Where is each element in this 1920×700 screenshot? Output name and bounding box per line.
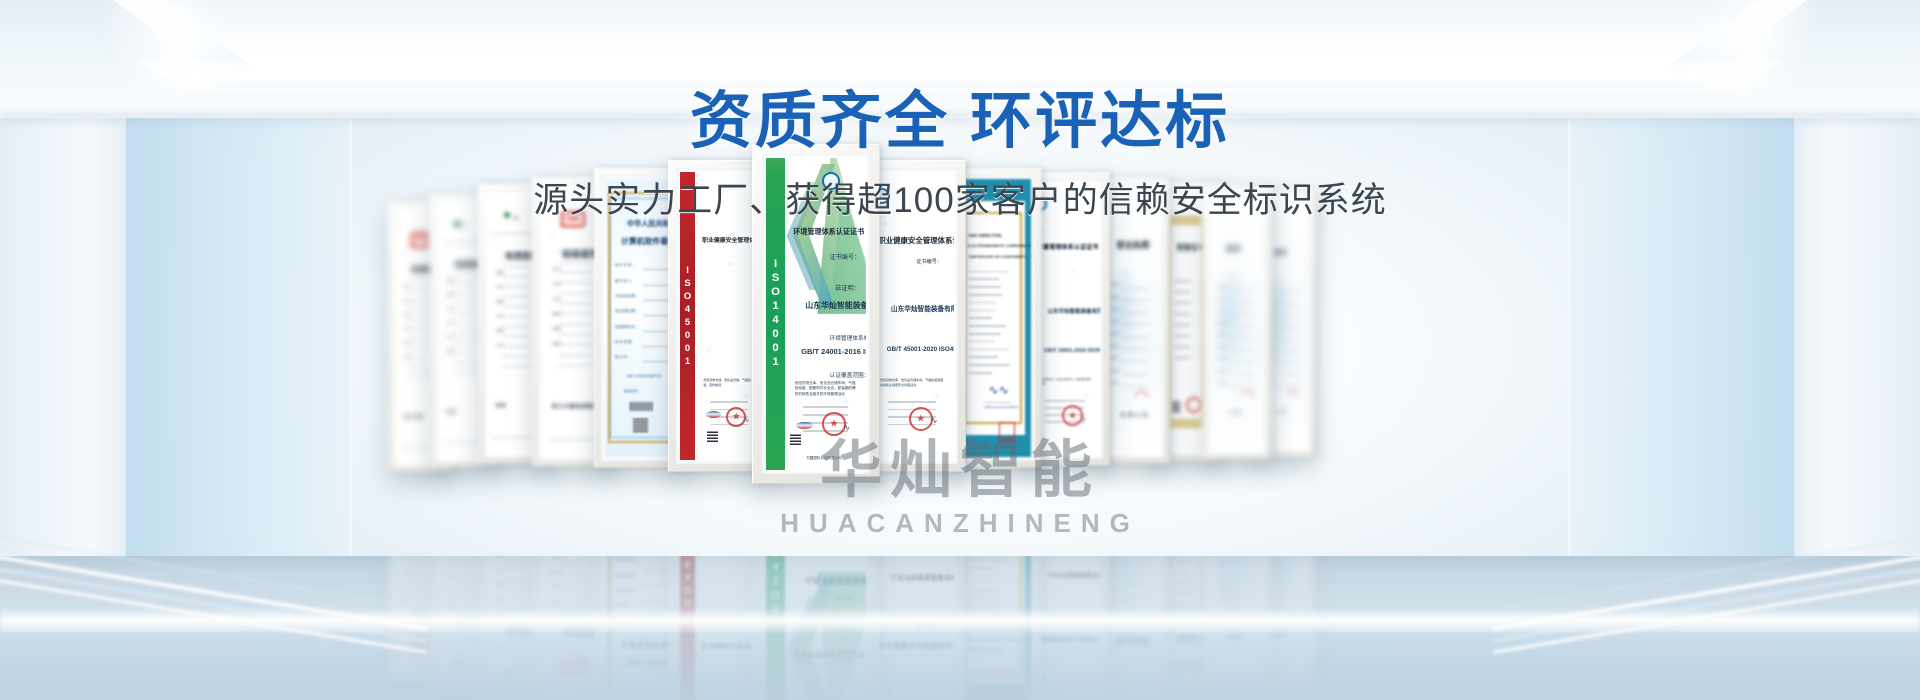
ce-body-line [969, 356, 999, 358]
page-subtitle: 源头实力工厂、获得超100家客户的信赖安全标识系统 [0, 172, 1920, 223]
license-field-rule [1277, 362, 1300, 363]
fine-print-line [710, 401, 748, 403]
ce-body-line [969, 325, 1007, 327]
form-rule [501, 266, 532, 267]
award-body-line [1174, 291, 1189, 293]
certificate-title: 质量管理体系认证证书 [1037, 242, 1099, 251]
form-field-label: 权利取得方式： [615, 324, 639, 329]
form-label [403, 300, 410, 302]
award-body-line [1174, 346, 1189, 348]
ce-body-line [969, 372, 992, 374]
form-rule [451, 323, 479, 324]
official-seal-icon [909, 407, 933, 431]
certificate-issuer: 有限公司 [1120, 411, 1150, 419]
form-field-rule [643, 331, 668, 332]
form-label [496, 286, 504, 288]
form-label [496, 300, 504, 302]
form-field-rule [643, 315, 668, 316]
license-field-label [1218, 358, 1228, 360]
certificate-issuer: 浙江方圆 [403, 414, 423, 420]
certificate-title: 环境管理体系认证证书 [793, 227, 864, 237]
form-label [496, 271, 504, 273]
form-rule [557, 324, 591, 325]
ce-line-2: ELECTROMAGNETIC COMPATIBILITY DIRECTIVE [968, 244, 1031, 248]
award-body-line [1174, 324, 1189, 326]
license-field-rule [1277, 304, 1300, 305]
form-rule [501, 316, 532, 317]
form-field-rule [643, 269, 668, 270]
form-rule [451, 293, 479, 294]
barcode [1172, 401, 1181, 413]
license-field-rule [1277, 351, 1300, 352]
lab-issuer-label: 深圳 [462, 224, 468, 228]
license-field-rule [1277, 386, 1300, 387]
form-field-label: 首次发表日期： [615, 308, 639, 313]
fine-print-line [803, 406, 848, 408]
form-label [496, 344, 504, 346]
license-field-rule [1277, 292, 1300, 293]
udem-mark-icon: UDEM [999, 422, 1015, 442]
form-rule [501, 366, 532, 367]
ce-body-line [969, 278, 1000, 280]
page-title: 资质齐全 环评达标 [0, 88, 1920, 156]
certificate-title: 营业执照 [1116, 239, 1149, 251]
cma-badge-sub: 检验检测机构资质认定 [557, 224, 585, 228]
form-rule [557, 272, 591, 273]
qr-code-icon [707, 431, 718, 442]
form-field-label: 登 记 号： [615, 354, 630, 359]
license-field-rule [1230, 314, 1254, 315]
license-field-label [1218, 287, 1228, 289]
ce-line-1: EMC DIRECTIVE, [969, 233, 1003, 238]
form-rule [557, 303, 591, 304]
award-body-line [1174, 302, 1189, 304]
form-rule [501, 356, 532, 357]
license-field-rule [1230, 350, 1254, 351]
license-field-rule [1277, 316, 1300, 317]
signature-mark: ∿ [744, 416, 750, 424]
form-label [403, 286, 410, 288]
form-rule [501, 326, 532, 327]
form-label [552, 298, 561, 300]
certificate-company: 山东华灿智能装备有限公司 [1047, 307, 1100, 315]
form-label [552, 342, 561, 344]
ce-body-line [969, 317, 993, 319]
license-field-label [1218, 346, 1228, 348]
certificate-issuer: 深圳 [446, 409, 456, 415]
form-label [446, 308, 454, 310]
form-label [496, 329, 504, 331]
license-field-label [1218, 370, 1228, 372]
license-field-rule [1230, 303, 1254, 304]
signature-mark: ∿ [1080, 414, 1086, 423]
certificate-standard-label: 环境管理体系标准： [830, 333, 866, 342]
form-rule [501, 256, 532, 257]
certificate-company: 山东华灿智能装备有限公司 [891, 303, 954, 313]
form-label [403, 328, 410, 330]
form-rule [557, 355, 591, 356]
form-label [446, 279, 454, 281]
certificate-scope: 危险货物仓库、危化品仓储车间、气瓶检验室、配套附件安全合、配装箱的爆炸的销售及相… [795, 381, 856, 397]
form-field-label: 开发完成日期： [615, 293, 639, 298]
form-field-label: 著 作 权 人： [615, 278, 635, 283]
license-field-rule [1277, 374, 1300, 375]
ce-authority: UDEM International Certification [984, 406, 1019, 409]
wlg-mark-icon [796, 422, 812, 429]
certificate-standard: GB/T 24001-2016 ISO14001:2015 [801, 347, 866, 356]
form-rule [557, 262, 591, 263]
ce-line-3: CERTIFICATE OF CONFORMITY [969, 255, 1027, 259]
form-rule [557, 344, 591, 345]
wlg-mark-icon [706, 411, 721, 418]
fine-print-line [888, 401, 935, 403]
certificate-cert-no-label: 证书编号： [830, 252, 861, 261]
form-label [552, 312, 561, 314]
form-field-rule [643, 285, 668, 286]
certificate-issuer: 公司 [1229, 410, 1242, 416]
form-rule [451, 342, 479, 343]
ce-body-line [969, 333, 1001, 335]
form-field-rule [643, 361, 668, 362]
certificate-scope: 危险货物仓库、危化品仓储车间、气瓶检验室相关的职业健康安全管理活动 [880, 378, 944, 387]
form-rule [557, 282, 591, 283]
license-field-rule [1121, 337, 1149, 338]
license-field-rule [1230, 386, 1254, 387]
form-rule [501, 276, 532, 277]
certificate-cert-no-label: 证书编号： [916, 258, 942, 265]
form-rule [557, 293, 591, 294]
form-label [552, 268, 561, 270]
certificate-issuer: 深圳 [496, 403, 507, 409]
form-rule [501, 306, 532, 307]
form-rule [557, 365, 591, 366]
certificate-scope: 危险货物仓储、危化品仓储、气瓶检验、配件制造 [703, 378, 754, 387]
certificate-document: 证书 公司 [1210, 194, 1265, 453]
license-field-rule [1230, 362, 1254, 363]
ce-signature-rule [985, 402, 1011, 403]
award-body-line [1174, 335, 1189, 337]
form-rule [557, 334, 591, 335]
form-rule [451, 333, 479, 334]
license-field-rule [1230, 338, 1254, 339]
form-label [446, 350, 454, 352]
award-body-line [1174, 313, 1189, 315]
form-rule [451, 283, 479, 284]
license-field-rule [1121, 386, 1149, 387]
certificate-scope-label: 认证覆盖范围： [830, 370, 866, 379]
signature-mark: ∿ [931, 415, 938, 425]
certificate-standard: GB/T 45001-2020 ISO45001:2018 [887, 346, 954, 353]
license-field-rule [1121, 288, 1149, 289]
certificate-company-label: 兹证明： [835, 283, 860, 292]
form-rule [451, 313, 479, 314]
form-rule [501, 286, 532, 287]
form-rule [501, 346, 532, 347]
license-field-rule [1121, 361, 1149, 362]
form-rule [451, 274, 479, 275]
certificate-footer-note: 依据《计算机软件保护条例》 [627, 374, 663, 378]
award-body-line [1174, 357, 1189, 359]
qr-code-icon [790, 434, 801, 445]
fine-print-line [1045, 400, 1084, 402]
form-rule [557, 313, 591, 314]
license-field-rule [1121, 324, 1149, 325]
form-rule [451, 352, 479, 353]
license-field-label [1218, 322, 1228, 324]
certificate-issuer: 方圆国际认证有限公司 [806, 456, 842, 461]
license-field-label [1218, 334, 1228, 336]
license-field-rule [1121, 300, 1149, 301]
form-field-label: 权 利 范 围： [615, 339, 635, 344]
license-field-rule [1230, 326, 1254, 327]
license-field-rule [1277, 327, 1300, 328]
form-rule [501, 296, 532, 297]
form-rule [501, 336, 532, 337]
ce-body-line [969, 286, 1001, 288]
official-seal-icon [822, 412, 845, 435]
ce-body-line [969, 364, 1010, 366]
certificate-title: 证书 [1226, 244, 1240, 254]
certificate-issuer: 国家版权局 [624, 389, 638, 393]
award-body-line [1174, 280, 1189, 282]
form-field-rule [643, 346, 668, 347]
ce-signature: ∿∿ [988, 383, 1008, 397]
footer-rule [548, 439, 600, 440]
form-label [496, 315, 504, 317]
hero-headings: 资质齐全 环评达标 源头实力工厂、获得超100家客户的信赖安全标识系统 [0, 88, 1920, 223]
certificate-title: 荣誉证书 [1177, 243, 1205, 253]
license-field-rule [1230, 374, 1254, 375]
ce-body-line [969, 294, 1003, 296]
form-rule [451, 372, 479, 373]
form-label [446, 322, 454, 324]
license-field-label [1218, 382, 1228, 384]
form-label [446, 293, 454, 295]
license-field-rule [1121, 312, 1149, 313]
cma-badge-sub: 检验检测机构资质认定 [408, 245, 430, 248]
certificate-standard: GB/T 19001-2016 ISO9001:2015 [1044, 348, 1100, 354]
certificate-title: 证书 [1273, 247, 1286, 257]
signature-mark: ∿ [843, 422, 850, 432]
form-field-label: 软 件 名 称： [615, 262, 635, 267]
certificate-frame[interactable]: 证书 公司 [1202, 186, 1272, 460]
form-rule [451, 303, 479, 304]
license-field-rule [1230, 291, 1254, 292]
license-field-rule [1277, 339, 1300, 340]
banner-stage: CMA 检验检测机构资质认定 检测报告 浙江方圆 深圳 检测报告 深圳 深圳 [0, 0, 1920, 700]
certificate-title: 职业健康安全管理体系认证证书 [878, 235, 954, 246]
certificate-issuer: 公司 [1276, 409, 1289, 415]
form-rule [557, 251, 591, 252]
certificate-company: 山东华灿智能装备有限公司 [805, 300, 866, 311]
form-field-rule [643, 300, 668, 301]
form-label [552, 283, 561, 285]
certificate-scope: 危险货物仓库、危化品仓储车间、配装箱的爆炸的销售 [1038, 378, 1091, 386]
qr-code-icon [633, 417, 648, 432]
form-rule [451, 264, 479, 265]
form-label [552, 327, 561, 329]
license-field-rule [1121, 349, 1149, 350]
form-rule [451, 362, 479, 363]
form-label [403, 314, 410, 316]
license-field-rule [1121, 374, 1149, 375]
barcode [630, 402, 654, 412]
red-seal-icon [1186, 397, 1202, 413]
